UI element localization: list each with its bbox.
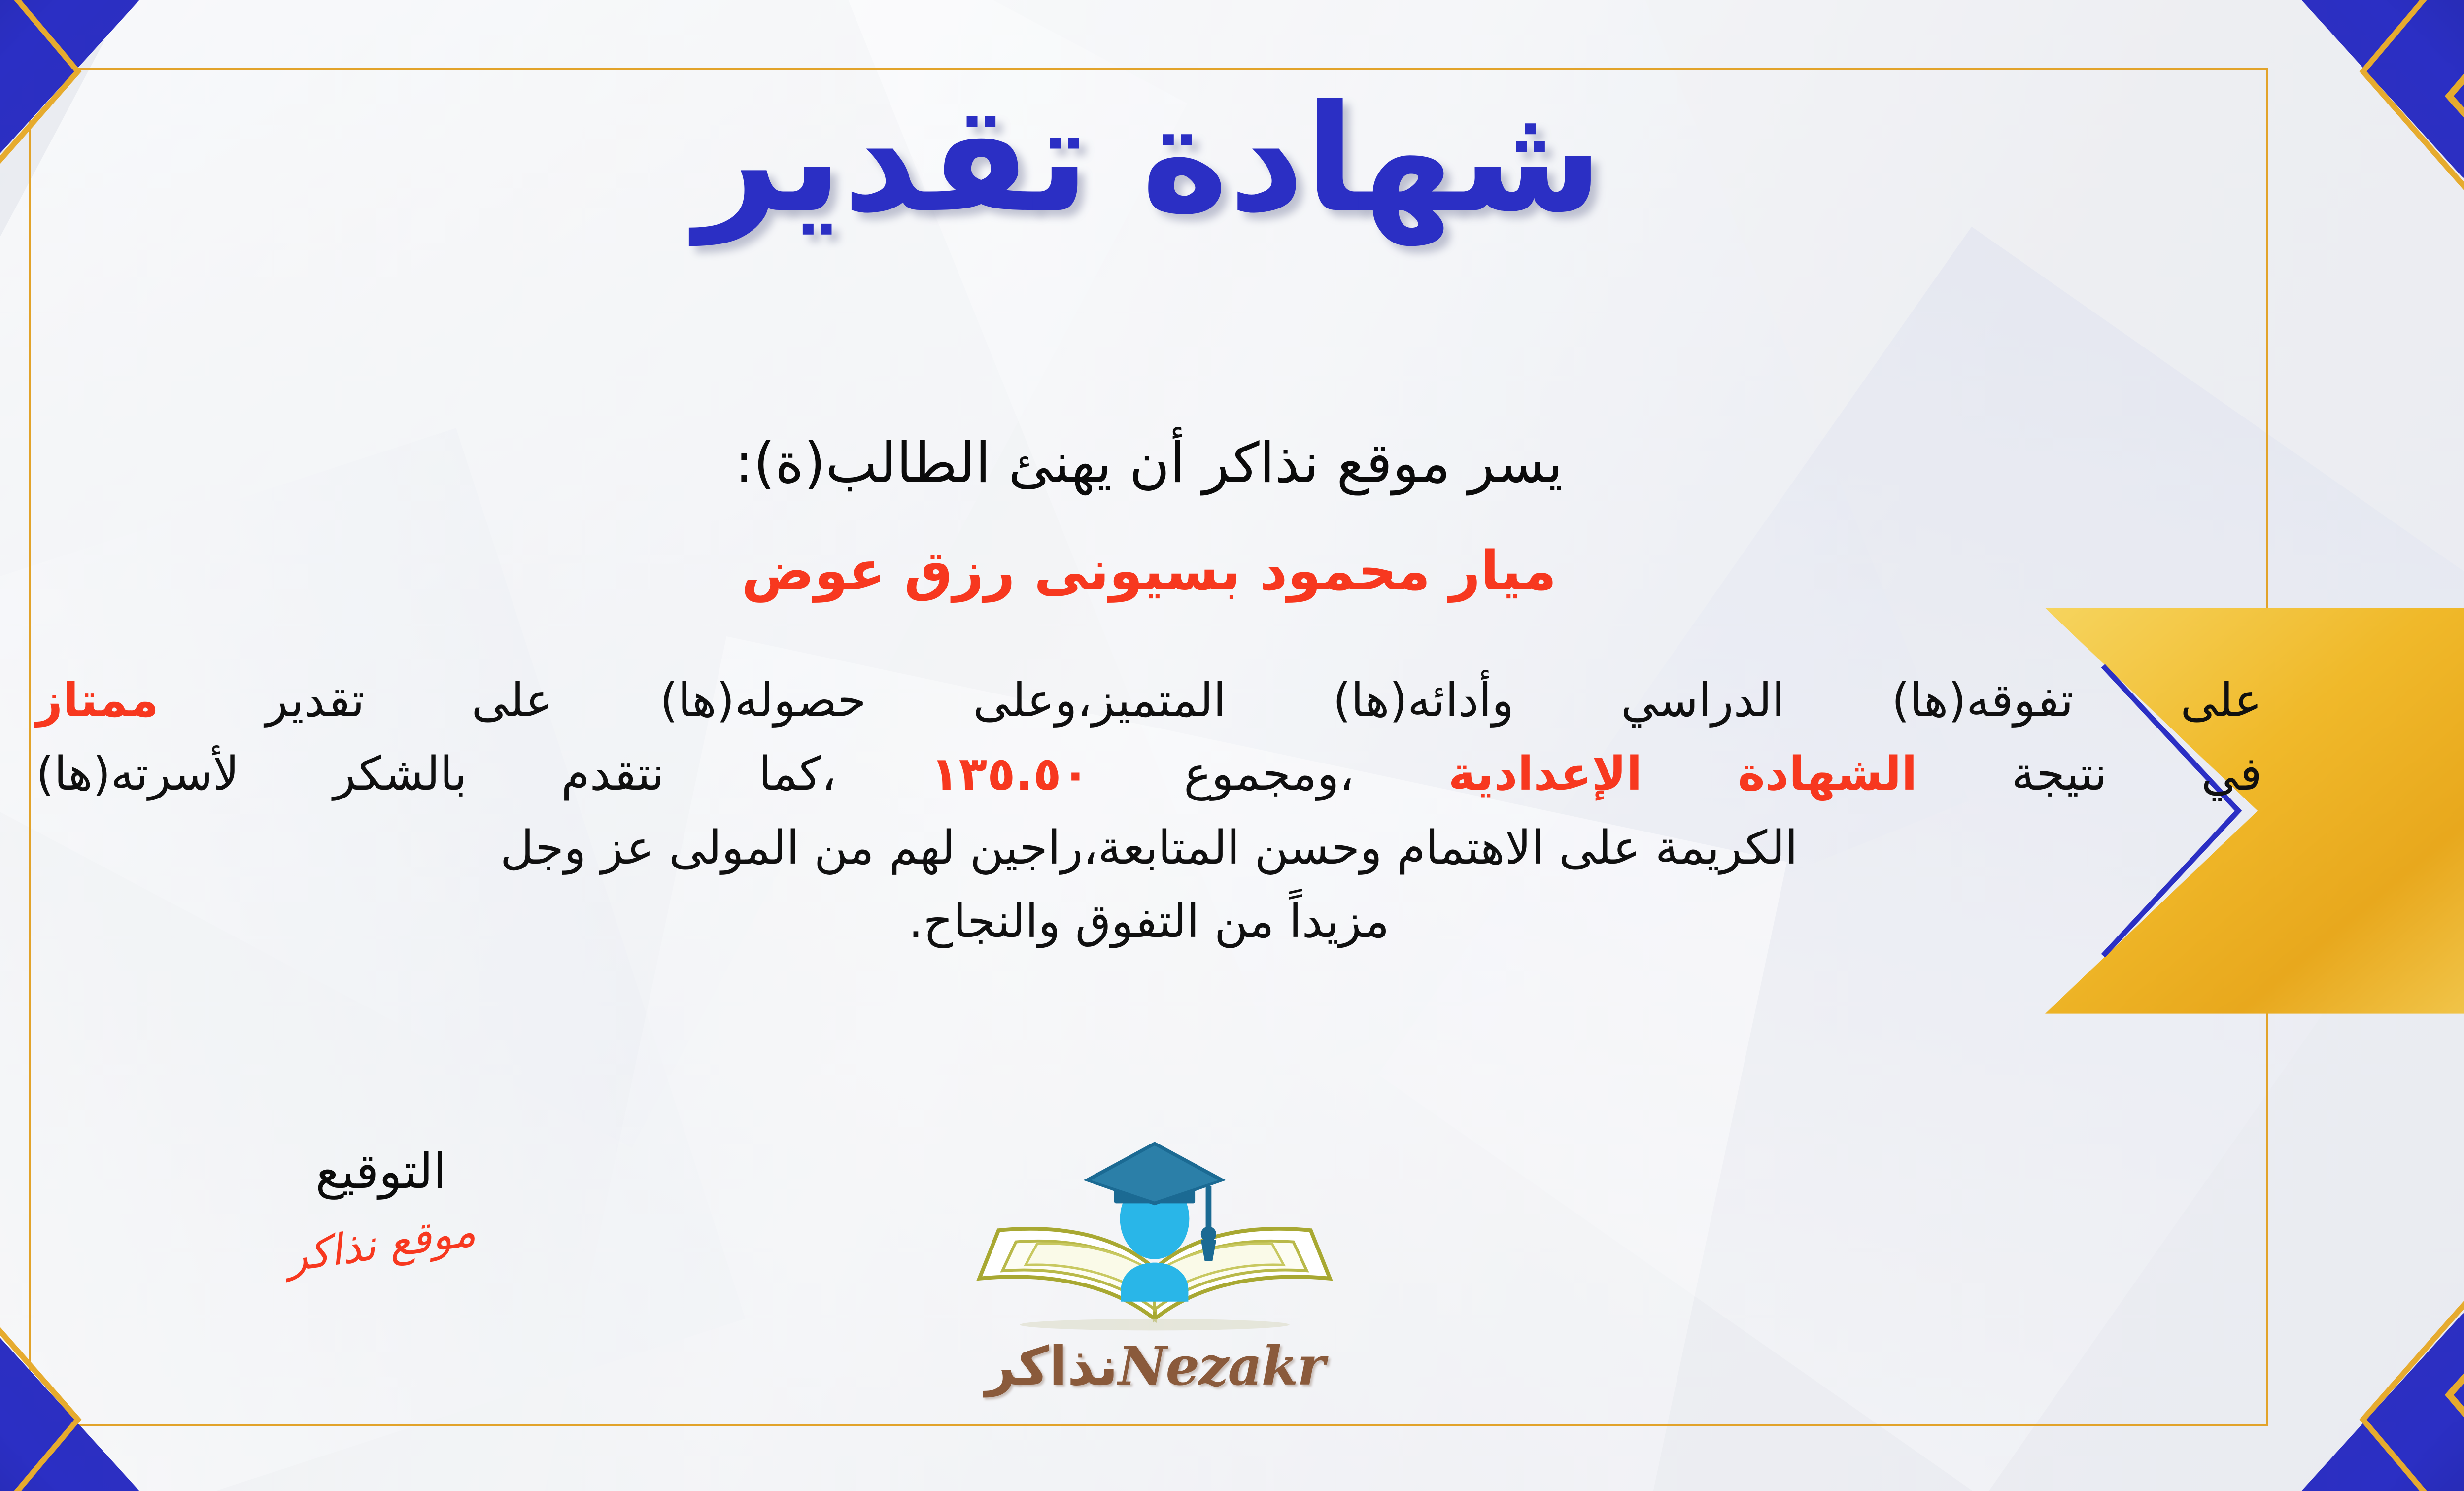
body-line-2-middle: ،ومجموع: [1184, 747, 1354, 801]
body-line-3: الكريمة على الاهتمام وحسن المتابعة،راجين…: [36, 815, 2262, 881]
body-line-2-prefix: في نتيجة: [2012, 747, 2262, 801]
total-score: ١٣٥.٥٠: [930, 747, 1090, 801]
student-name: ميار محمود بسيونى رزق عوض: [0, 537, 2464, 605]
brand-logo-block: Nezakrنذاكر: [950, 1126, 1359, 1397]
brand-name-arabic: نذاكر: [985, 1336, 1118, 1397]
body-line-1-text: على تفوقه(ها) الدراسي وأدائه(ها) المتميز…: [266, 674, 2262, 728]
body-line-1: على تفوقه(ها) الدراسي وأدائه(ها) المتميز…: [36, 668, 2262, 733]
graduate-book-icon: [950, 1126, 1359, 1338]
brand-wordmark: Nezakrنذاكر: [950, 1335, 1359, 1397]
grade-value: ممتاز: [36, 674, 159, 728]
certificate-body: على تفوقه(ها) الدراسي وأدائه(ها) المتميز…: [36, 668, 2262, 963]
certificate-content: شهادة تقدير يسر موقع نذاكر أن يهنئ الطال…: [0, 0, 2464, 1491]
certificate-page: شهادة تقدير يسر موقع نذاكر أن يهنئ الطال…: [0, 0, 2464, 1491]
brand-name-latin: Nezakr: [1118, 1335, 1324, 1397]
handwritten-signature: موقع نذاكر: [283, 1207, 479, 1282]
signature-block: التوقيع موقع نذاكر: [208, 1144, 553, 1269]
body-line-2-suffix: ،كما نتقدم بالشكر لأسرته(ها): [36, 747, 836, 801]
body-line-2: في نتيجة الشهادة الإعدادية ،ومجموع ١٣٥.٥…: [36, 741, 2262, 807]
signature-label: التوقيع: [208, 1144, 553, 1200]
body-line-4: مزيداً من التفوق والنجاح.: [36, 889, 2262, 954]
certificate-title: شهادة تقدير: [0, 74, 2464, 244]
congratulation-line: يسر موقع نذاكر أن يهنئ الطالب(ة):: [0, 429, 2464, 498]
exam-name: الشهادة الإعدادية: [1448, 747, 1917, 801]
